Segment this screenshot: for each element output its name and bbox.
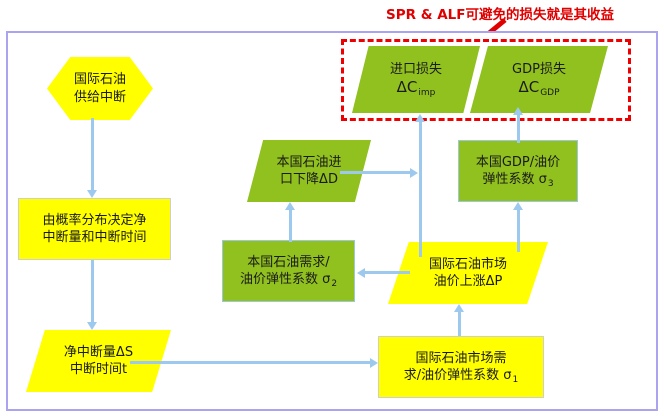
node-world-price-rise[interactable]: 国际石油市场 油价上涨ΔP xyxy=(388,242,548,304)
node-domestic-gdp-elasticity-subscript: 3 xyxy=(547,179,554,189)
edge-import-decline-to-import-loss-arrowhead xyxy=(410,168,418,178)
node-domestic-demand-elasticity-line2: 油价弹性系数 σ2 xyxy=(240,271,337,288)
node-domestic-demand-elasticity[interactable]: 本国石油需求/ 油价弹性系数 σ2 xyxy=(222,240,355,302)
edge-probability-to-net xyxy=(91,260,94,322)
node-import-decline-line2: 口下降ΔD xyxy=(280,171,338,188)
edge-price-to-import-loss-arrowhead xyxy=(415,114,425,122)
node-probability-distribution[interactable]: 由概率分布决定净 中断量和中断时间 xyxy=(18,198,171,260)
edge-supply-to-probability-arrowhead xyxy=(87,190,97,198)
node-supply-disruption-line2: 供给中断 xyxy=(74,89,126,106)
node-world-demand-elasticity-line2: 求/油价弹性系数 σ1 xyxy=(404,367,519,384)
node-gdp-loss-line1: GDP损失 xyxy=(512,61,566,78)
node-domestic-demand-elasticity-subscript: 2 xyxy=(330,279,337,289)
edge-world-demand-to-price xyxy=(458,312,461,336)
diagram-canvas: SPR & ALF可避免的损失就是其收益 国际石油 供给中断 由概率分布决定净 … xyxy=(0,0,664,416)
node-import-loss-line2: ΔCimp xyxy=(397,78,436,98)
node-import-decline-line1: 本国石油进 xyxy=(276,154,341,171)
edge-price-to-domestic-demand xyxy=(365,271,410,274)
node-import-loss-line1: 进口损失 xyxy=(390,61,442,78)
node-domestic-demand-elasticity-sigma: 油价弹性系数 σ xyxy=(240,272,330,287)
node-import-loss-symbol: ΔC xyxy=(397,78,418,96)
edge-supply-to-probability xyxy=(91,118,94,190)
node-world-demand-elasticity-subscript: 1 xyxy=(512,375,519,385)
edge-domestic-demand-to-import-decline-arrowhead xyxy=(285,202,295,210)
edge-price-to-import-loss xyxy=(419,122,422,257)
node-probability-distribution-line2: 中断量和中断时间 xyxy=(42,229,146,246)
node-net-disruption-line1: 净中断量ΔS xyxy=(64,344,133,361)
node-world-demand-elasticity[interactable]: 国际石油市场需 求/油价弹性系数 σ1 xyxy=(378,336,544,398)
node-supply-disruption-line1: 国际石油 xyxy=(74,71,126,88)
node-gdp-loss-symbol: ΔC xyxy=(518,78,539,96)
node-domestic-gdp-elasticity-line2: 弹性系数 σ3 xyxy=(482,171,553,188)
edge-net-to-world-demand-arrowhead xyxy=(370,358,378,368)
node-world-price-rise-line1: 国际石油市场 xyxy=(429,256,507,273)
edge-domestic-demand-to-import-decline xyxy=(289,210,292,242)
node-world-demand-elasticity-sigma: 求/油价弹性系数 σ xyxy=(404,368,512,383)
node-domestic-gdp-elasticity[interactable]: 本国GDP/油价 弹性系数 σ3 xyxy=(458,140,578,202)
node-gdp-loss-subscript: GDP xyxy=(539,88,559,98)
edge-import-decline-to-import-loss xyxy=(340,171,410,174)
node-import-loss[interactable]: 进口损失 ΔCimp xyxy=(352,46,480,113)
node-world-demand-elasticity-line1: 国际石油市场需 xyxy=(415,350,506,367)
edge-gdp-elasticity-to-gdp-loss xyxy=(517,115,520,143)
edge-price-to-gdp-elasticity-arrowhead xyxy=(513,202,523,210)
page-title: SPR & ALF可避免的损失就是其收益 xyxy=(345,3,655,23)
edge-probability-to-net-arrowhead xyxy=(87,322,97,330)
edge-price-to-gdp-elasticity xyxy=(517,210,520,252)
node-world-price-rise-line2: 油价上涨ΔP xyxy=(434,273,503,290)
node-net-disruption-line2: 中断时间t xyxy=(70,361,127,378)
node-domestic-gdp-elasticity-line1: 本国GDP/油价 xyxy=(476,154,560,171)
node-probability-distribution-line1: 由概率分布决定净 xyxy=(42,212,146,229)
node-gdp-loss[interactable]: GDP损失 ΔCGDP xyxy=(470,46,608,113)
node-domestic-gdp-elasticity-sigma: 弹性系数 σ xyxy=(482,172,546,187)
edge-price-to-domestic-demand-arrowhead xyxy=(357,268,365,278)
edge-gdp-elasticity-to-gdp-loss-arrowhead xyxy=(513,107,523,115)
edge-net-to-world-demand xyxy=(130,361,370,364)
node-domestic-demand-elasticity-line1: 本国石油需求/ xyxy=(247,254,329,271)
node-gdp-loss-line2: ΔCGDP xyxy=(518,78,559,98)
edge-world-demand-to-price-arrowhead xyxy=(454,304,464,312)
node-import-loss-subscript: imp xyxy=(417,88,435,98)
